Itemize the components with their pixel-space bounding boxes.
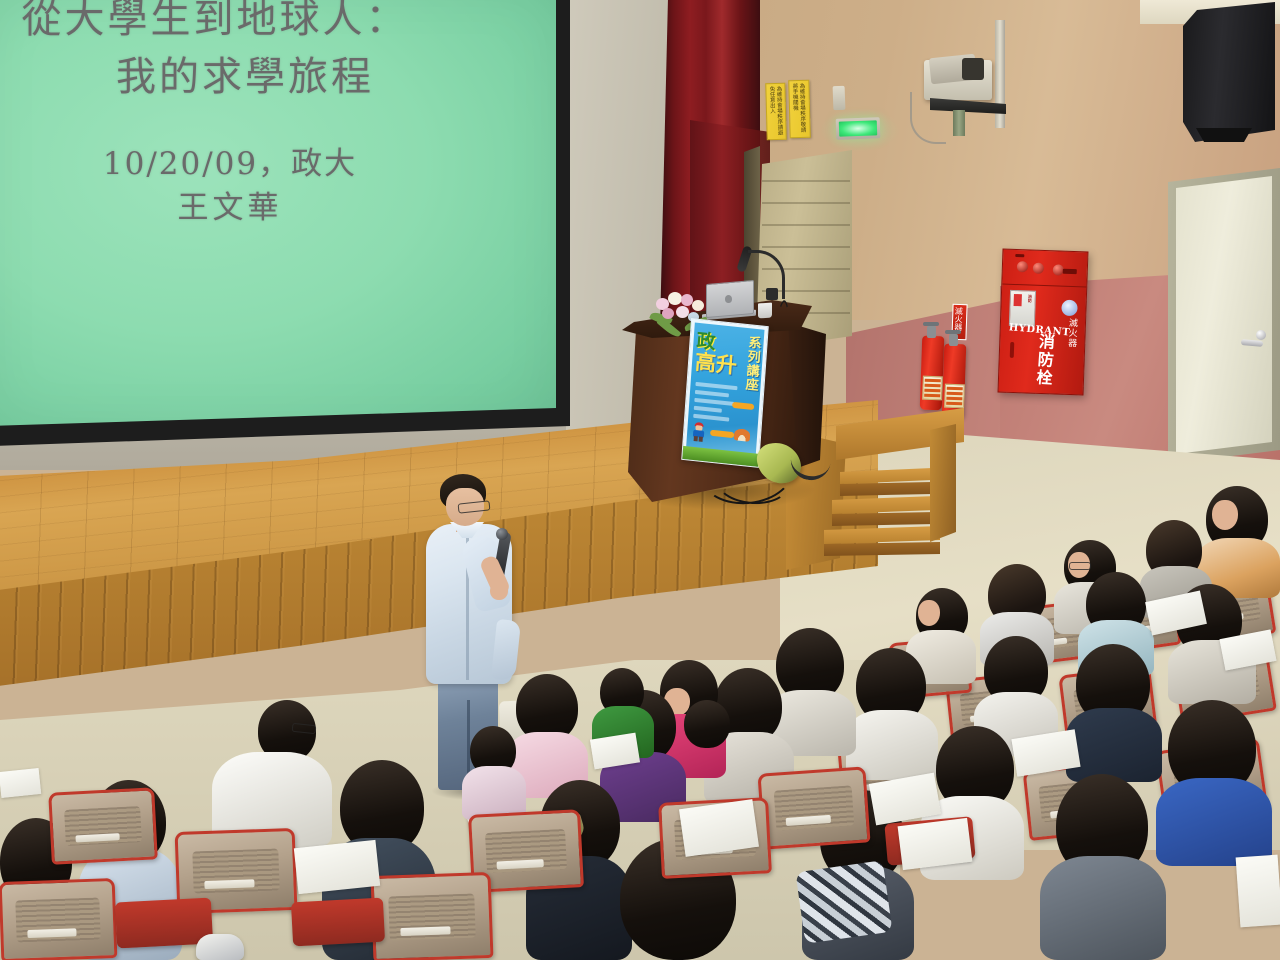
stage-step-riser: [840, 482, 932, 496]
projector-lens-icon: [962, 58, 984, 80]
exit-sign-light: [839, 120, 878, 136]
wall-control-panel[interactable]: [833, 86, 846, 110]
microphone-head-icon: [496, 528, 508, 540]
projection-screen: 從大學生到地球人： 我的求學旅程 10/20/09，政大 王文華: [0, 0, 556, 426]
handout-paper: [294, 840, 380, 894]
slide-title-line2: 我的求學旅程: [30, 44, 460, 102]
lecture-hall-photo: 從大學生到地球人： 我的求學旅程 10/20/09，政大 王文華 為維持會場秩序…: [0, 0, 1280, 960]
plaid-bag: [795, 860, 892, 944]
auditorium-seat[interactable]: [757, 766, 870, 849]
fire-extinguisher: [942, 344, 967, 419]
seat-number-plate: [28, 928, 77, 938]
audience-member-head: [684, 700, 730, 748]
notice-sign-quiet-entry: 為維持會場秩序請避免任意出入: [765, 83, 786, 141]
wall-speaker: [1183, 2, 1275, 142]
poster-title-yellow: 高升: [694, 346, 738, 380]
stage-step-riser: [824, 542, 940, 556]
handout-paper: [0, 768, 41, 798]
shoe: [196, 934, 244, 960]
door-lock-knob[interactable]: [1256, 330, 1266, 340]
fire-extinguisher: [920, 336, 945, 411]
slide-speaker-name: 王文華: [80, 182, 380, 227]
paper-cup: [758, 303, 772, 319]
audience-member-body: [1040, 856, 1166, 960]
extinguisher-sign-text: 滅火器: [953, 305, 964, 331]
eyeglasses-icon: [1069, 562, 1091, 570]
handout-paper: [898, 818, 973, 870]
poster-detail-lines: [693, 382, 738, 426]
apple-logo-icon: [725, 295, 732, 303]
auditorium-seat[interactable]: [48, 787, 158, 864]
presenter-shirt-tail: [491, 619, 521, 681]
projector-mount-plate: [953, 110, 965, 136]
auditorium-seat[interactable]: [0, 878, 117, 960]
hydrant-slot: [1063, 269, 1077, 274]
hydrant-badge-icon: [1061, 300, 1078, 317]
extinguisher-label: [922, 376, 943, 401]
podium-microphone-base: [766, 288, 778, 300]
slide-title-line1: 從大學生到地球人：: [0, 0, 430, 44]
stage-step-riser: [832, 512, 936, 526]
eyeglasses-icon: [458, 500, 491, 513]
hydrant-instruction-label: 消防: [1009, 290, 1036, 327]
seat-cushion[interactable]: [291, 898, 385, 947]
presenter-hand: [490, 582, 508, 600]
fire-hydrant-cabinet[interactable]: 消防 滅火器 HYDRANT 消防栓: [998, 249, 1089, 396]
hydrant-door-handle[interactable]: [1010, 342, 1015, 358]
handout-paper: [1236, 855, 1280, 928]
extinguisher-neck: [949, 334, 958, 346]
side-door[interactable]: [1176, 176, 1272, 454]
exit-sign-icon: [836, 117, 881, 140]
extinguisher-label: [944, 384, 965, 409]
audience-member-body: [1156, 778, 1272, 866]
notice-sign-1-text: 為維持會場秩序請避免任意出入: [766, 84, 783, 139]
slide-content: 從大學生到地球人： 我的求學旅程 10/20/09，政大 王文華: [0, 0, 556, 412]
audience-member-body: [1066, 708, 1162, 782]
stage-handrail-post: [930, 424, 956, 542]
extinguisher-handle: [923, 322, 939, 326]
hydrant-chinese-label: 消防栓: [1030, 332, 1058, 388]
poster-series-label: 系列講座: [740, 335, 763, 393]
extinguisher-neck: [927, 326, 936, 338]
notice-sign-2-text: 為維持會場秩序敬請將手機關機: [789, 81, 806, 137]
hydrant-vent: [1015, 254, 1024, 257]
wall-speaker-mount: [1196, 128, 1252, 142]
handout-paper: [679, 799, 759, 857]
mario-icon: [692, 422, 706, 443]
slide-date-location: 10/20/09，政大: [30, 138, 430, 183]
notice-sign-mobile-off: 為維持會場秩序敬請將手機關機: [788, 80, 811, 139]
extinguisher-handle: [945, 330, 961, 334]
auditorium-seat[interactable]: [371, 872, 494, 960]
